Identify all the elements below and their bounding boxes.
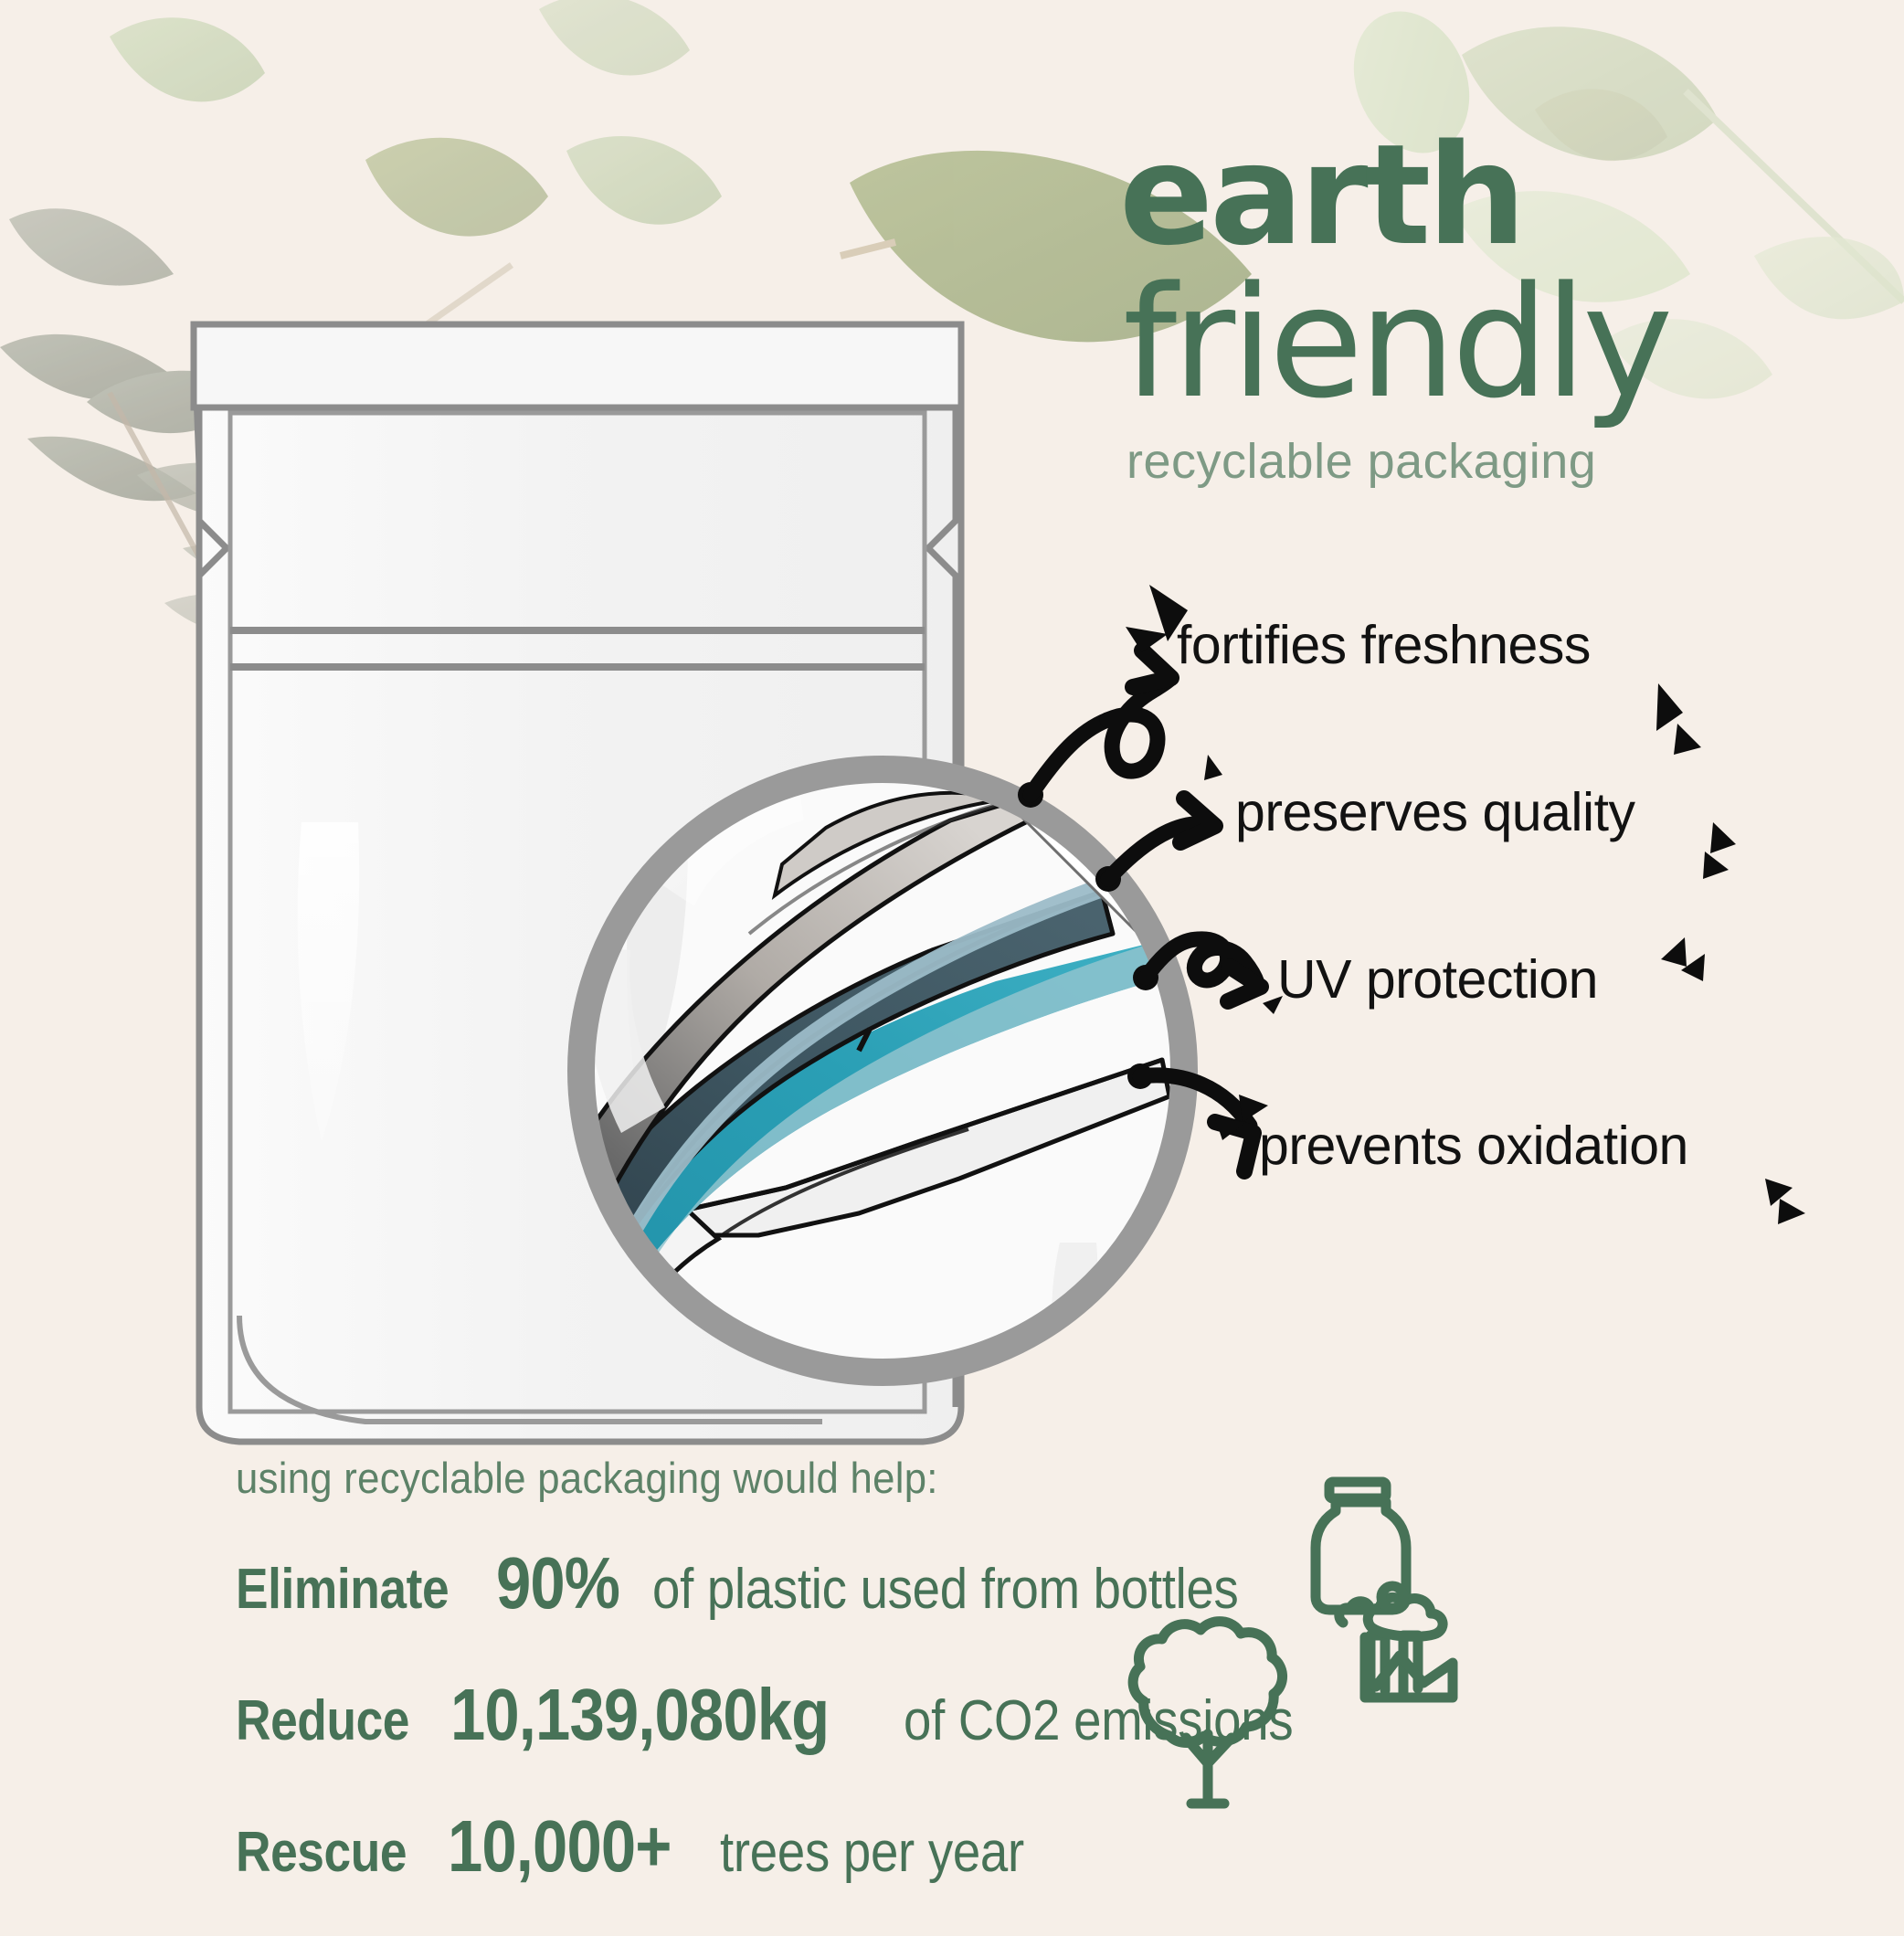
stat-icons [0, 0, 1904, 1905]
tree-icon [1133, 1622, 1282, 1804]
factory-icon [1339, 1586, 1453, 1698]
infographic-canvas: earth friendly recyclable packaging fort… [0, 0, 1904, 1905]
